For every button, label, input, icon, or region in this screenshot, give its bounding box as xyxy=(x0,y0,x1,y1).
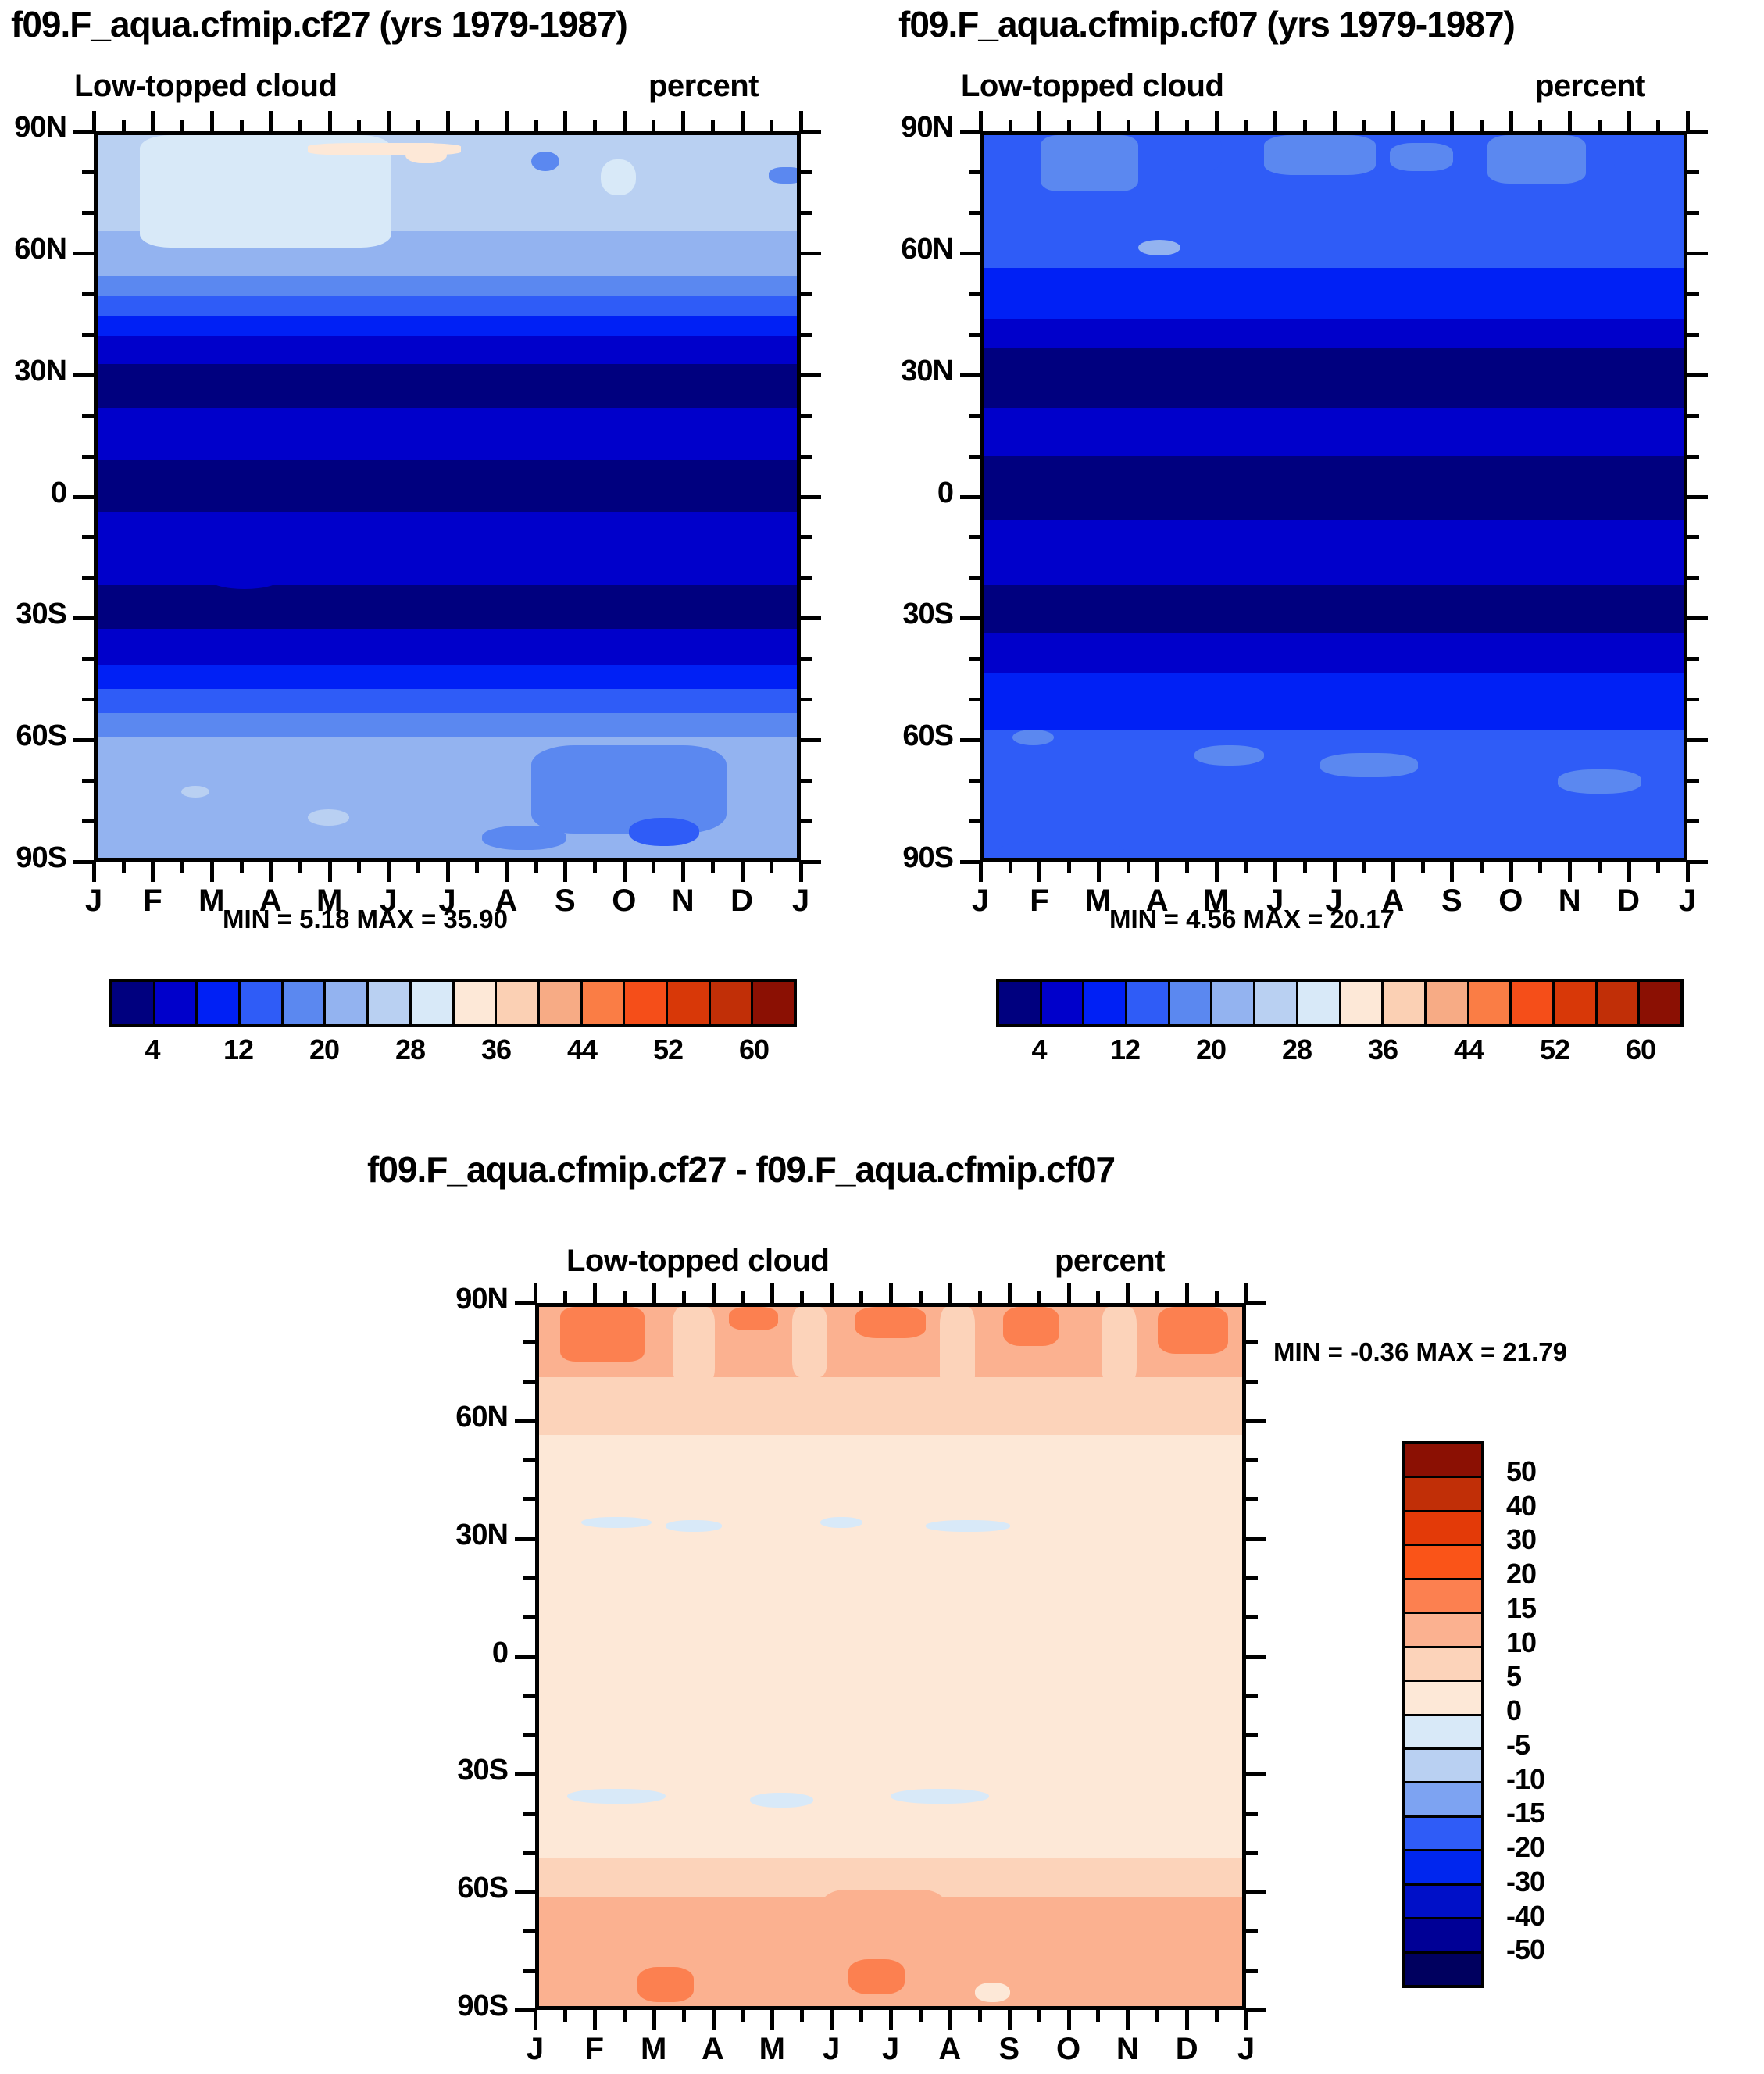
x-tick-major xyxy=(1244,1283,1248,1303)
y-tick-minor xyxy=(801,657,812,661)
y-tick-minor xyxy=(1687,576,1699,580)
contour-field-diff xyxy=(539,1307,1242,2006)
y-tick-major xyxy=(1687,373,1708,377)
contour-band xyxy=(980,673,1687,707)
x-tick-major xyxy=(741,111,745,131)
y-tick-minor xyxy=(523,1733,535,1737)
colorbar-swatch[interactable] xyxy=(1405,1614,1481,1647)
contour-band xyxy=(980,585,1687,635)
y-tick-major xyxy=(960,373,980,377)
y-tick-minor xyxy=(523,1694,535,1698)
y-tick-minor xyxy=(1246,1969,1258,1973)
contour-blob xyxy=(940,1307,975,1392)
contour-blob xyxy=(722,1913,806,1968)
colorbar-swatch[interactable] xyxy=(284,982,327,1024)
contour-blob xyxy=(629,818,699,846)
panel-right-subtitle-left: Low-topped cloud xyxy=(961,69,1223,104)
colorbar-tick-label: 60 xyxy=(707,1033,801,1066)
contour-band xyxy=(980,319,1687,349)
y-tick-minor xyxy=(801,576,812,580)
colorbar-swatch[interactable] xyxy=(455,982,498,1024)
x-tick-major xyxy=(1155,862,1159,882)
x-tick-minor xyxy=(741,2010,745,2022)
y-tick-minor xyxy=(1687,292,1699,296)
plot-area-right[interactable] xyxy=(980,131,1687,862)
contour-blob xyxy=(601,159,636,195)
colorbar-swatch[interactable] xyxy=(668,982,711,1024)
colorbar-swatch[interactable] xyxy=(625,982,668,1024)
y-tick-minor xyxy=(82,698,94,701)
x-axis-label: J xyxy=(1656,884,1719,919)
y-tick-minor xyxy=(1687,211,1699,215)
x-axis-label: J xyxy=(949,884,1012,919)
colorbar-tick-label: -40 xyxy=(1506,1900,1544,1933)
x-tick-minor xyxy=(800,1291,804,1303)
contour-blob xyxy=(567,1789,666,1804)
y-axis-label: 60S xyxy=(824,719,953,753)
colorbar-tick-label: 20 xyxy=(1164,1033,1258,1066)
x-axis-label: J xyxy=(1215,2032,1277,2067)
y-tick-minor xyxy=(1687,698,1699,701)
plot-area-left[interactable] xyxy=(94,131,801,862)
x-tick-minor xyxy=(859,2010,863,2022)
colorbar-swatch[interactable] xyxy=(1042,982,1085,1024)
colorbar-swatch[interactable] xyxy=(155,982,198,1024)
colorbar-swatch[interactable] xyxy=(999,982,1042,1024)
colorbar-left[interactable] xyxy=(109,979,797,1027)
x-tick-minor xyxy=(919,2010,923,2022)
x-axis-label: D xyxy=(711,884,773,919)
colorbar-swatch[interactable] xyxy=(1170,982,1213,1024)
colorbar-tick-label: 10 xyxy=(1506,1626,1536,1659)
colorbar-tick-label: 52 xyxy=(1508,1033,1602,1066)
x-axis-label: O xyxy=(593,884,655,919)
y-tick-major xyxy=(73,373,94,377)
x-axis-label: A xyxy=(919,2032,981,2067)
y-tick-major xyxy=(1687,616,1708,620)
y-tick-minor xyxy=(801,819,812,823)
y-tick-minor xyxy=(1687,455,1699,459)
contour-blob xyxy=(792,1307,827,1377)
y-axis-label: 30S xyxy=(824,598,953,631)
x-tick-major xyxy=(1067,1283,1071,1303)
x-tick-minor xyxy=(1303,862,1307,873)
x-tick-major xyxy=(770,1283,774,1303)
x-tick-major xyxy=(830,2010,834,2030)
y-tick-minor xyxy=(801,698,812,701)
y-tick-major xyxy=(960,860,980,864)
y-axis-label: 90S xyxy=(379,1990,508,2023)
x-tick-minor xyxy=(1155,1291,1159,1303)
x-tick-minor xyxy=(180,862,184,873)
x-tick-major xyxy=(830,1283,834,1303)
contour-blob xyxy=(1003,1307,1059,1346)
colorbar-tick-label: -10 xyxy=(1506,1763,1544,1796)
contour-band xyxy=(980,268,1687,298)
contour-blob xyxy=(673,1307,715,1384)
colorbar-swatch[interactable] xyxy=(1512,982,1555,1024)
contour-blob xyxy=(975,1983,1010,2002)
y-tick-minor xyxy=(969,698,980,701)
colorbar-swatch[interactable] xyxy=(1405,1750,1481,1783)
x-tick-minor xyxy=(978,1291,982,1303)
y-tick-major xyxy=(960,130,980,134)
x-tick-major xyxy=(1509,111,1513,131)
x-tick-minor xyxy=(652,862,655,873)
colorbar-swatch[interactable] xyxy=(1405,1954,1481,1985)
y-tick-minor xyxy=(969,333,980,337)
colorbar-swatch[interactable] xyxy=(1405,1783,1481,1817)
y-tick-major xyxy=(515,1655,535,1659)
x-tick-minor xyxy=(240,120,244,131)
x-tick-major xyxy=(623,111,627,131)
contour-blob xyxy=(1558,769,1641,794)
contour-band xyxy=(94,665,801,691)
x-tick-minor xyxy=(298,862,302,873)
x-tick-major xyxy=(979,111,983,131)
x-tick-minor xyxy=(1185,120,1189,131)
panel-right-subtitle-right: percent xyxy=(1535,69,1645,104)
colorbar-swatch[interactable] xyxy=(1598,982,1641,1024)
colorbar-swatch[interactable] xyxy=(1405,1546,1481,1580)
x-axis-label: J xyxy=(504,2032,566,2067)
colorbar-tick-label: 20 xyxy=(277,1033,371,1066)
x-tick-major xyxy=(1126,1283,1130,1303)
x-tick-major xyxy=(1627,111,1631,131)
colorbar-swatch[interactable] xyxy=(711,982,754,1024)
y-tick-major xyxy=(801,252,821,255)
contour-band xyxy=(980,408,1687,458)
y-tick-major xyxy=(73,616,94,620)
y-tick-major xyxy=(515,1772,535,1776)
x-tick-major xyxy=(712,2010,716,2030)
panel-left-subtitle-right: percent xyxy=(648,69,759,104)
contour-blob xyxy=(308,143,462,155)
contour-field-right xyxy=(984,135,1684,858)
y-tick-minor xyxy=(523,1812,535,1816)
contour-blob xyxy=(926,1520,1010,1532)
y-tick-major xyxy=(960,495,980,499)
contour-band xyxy=(980,633,1687,675)
x-tick-major xyxy=(1568,862,1572,882)
x-tick-major xyxy=(741,862,745,882)
x-tick-major xyxy=(979,862,983,882)
contour-blob xyxy=(1041,135,1138,191)
x-tick-minor xyxy=(1244,862,1248,873)
contour-blob xyxy=(769,167,801,184)
x-tick-minor xyxy=(1598,120,1602,131)
y-tick-minor xyxy=(82,779,94,783)
y-axis-label: 90N xyxy=(0,111,66,145)
panel-left-minmax: MIN = 5.18 MAX = 35.90 xyxy=(223,905,508,934)
y-tick-minor xyxy=(82,414,94,418)
x-tick-minor xyxy=(1009,120,1012,131)
x-axis-label: S xyxy=(978,2032,1041,2067)
x-tick-major xyxy=(799,111,803,131)
colorbar-swatch[interactable] xyxy=(753,982,794,1024)
y-tick-minor xyxy=(1246,1340,1258,1344)
colorbar-tick-label: 60 xyxy=(1594,1033,1687,1066)
y-tick-minor xyxy=(523,1929,535,1933)
contour-blob xyxy=(637,1967,694,2002)
x-tick-major xyxy=(1568,111,1572,131)
contour-band xyxy=(94,364,801,410)
y-tick-major xyxy=(801,495,821,499)
x-tick-major xyxy=(1244,2010,1248,2030)
colorbar-swatch[interactable] xyxy=(1405,1648,1481,1682)
x-axis-label: A xyxy=(682,2032,745,2067)
colorbar-swatch[interactable] xyxy=(1405,1444,1481,1478)
colorbar-swatch[interactable] xyxy=(1384,982,1427,1024)
x-tick-minor xyxy=(623,1291,627,1303)
y-tick-minor xyxy=(523,1969,535,1973)
x-tick-major xyxy=(1185,2010,1189,2030)
colorbar-swatch[interactable] xyxy=(1255,982,1298,1024)
x-tick-minor xyxy=(1215,1291,1219,1303)
y-tick-major xyxy=(73,860,94,864)
y-tick-minor xyxy=(801,535,812,539)
x-tick-major xyxy=(1686,111,1690,131)
colorbar-tick-label: 5 xyxy=(1506,1660,1521,1693)
colorbar-diff[interactable] xyxy=(1402,1441,1484,1988)
contour-band xyxy=(94,276,801,298)
y-tick-major xyxy=(1246,1772,1266,1776)
colorbar-swatch[interactable] xyxy=(1405,1818,1481,1851)
x-tick-minor xyxy=(298,120,302,131)
x-tick-minor xyxy=(1421,120,1425,131)
y-axis-label: 60S xyxy=(379,1872,508,1905)
y-tick-minor xyxy=(1246,1458,1258,1462)
y-tick-minor xyxy=(523,1615,535,1619)
colorbar-swatch[interactable] xyxy=(540,982,583,1024)
colorbar-swatch[interactable] xyxy=(497,982,540,1024)
x-tick-major xyxy=(1008,1283,1012,1303)
contour-blob xyxy=(666,1520,722,1532)
colorbar-swatch[interactable] xyxy=(1405,1919,1481,1953)
x-tick-major xyxy=(1037,111,1041,131)
contour-blob xyxy=(855,1307,926,1338)
y-tick-major xyxy=(801,130,821,134)
colorbar-swatch[interactable] xyxy=(1405,1580,1481,1614)
x-axis-label: F xyxy=(563,2032,626,2067)
y-tick-major xyxy=(1246,1890,1266,1894)
colorbar-swatch[interactable] xyxy=(326,982,369,1024)
colorbar-swatch[interactable] xyxy=(112,982,155,1024)
x-tick-major xyxy=(210,862,214,882)
panel-diff-subtitle-right: percent xyxy=(1055,1244,1165,1279)
y-tick-minor xyxy=(969,170,980,174)
contour-blob xyxy=(560,1307,645,1362)
contour-band xyxy=(94,629,801,667)
x-tick-minor xyxy=(682,1291,686,1303)
contour-band xyxy=(94,548,801,587)
x-tick-major xyxy=(770,2010,774,2030)
x-tick-minor xyxy=(770,120,773,131)
y-tick-major xyxy=(1246,1301,1266,1305)
panel-left-title: f09.F_aqua.cfmip.cf27 (yrs 1979-1987) xyxy=(11,3,627,45)
colorbar-tick-label: 4 xyxy=(992,1033,1086,1066)
x-tick-minor xyxy=(357,862,361,873)
x-tick-major xyxy=(269,111,273,131)
contour-blob xyxy=(891,1789,989,1804)
contour-blob xyxy=(1264,135,1376,175)
x-tick-minor xyxy=(741,1291,745,1303)
x-tick-major xyxy=(151,111,155,131)
x-tick-minor xyxy=(711,862,715,873)
y-tick-minor xyxy=(1246,1615,1258,1619)
y-tick-major xyxy=(73,738,94,742)
x-tick-major xyxy=(652,1283,656,1303)
x-axis-label: D xyxy=(1598,884,1660,919)
colorbar-tick-label: -20 xyxy=(1506,1831,1544,1864)
colorbar-tick-label: 50 xyxy=(1506,1455,1536,1488)
x-tick-minor xyxy=(475,120,479,131)
x-axis-label: N xyxy=(1538,884,1601,919)
colorbar-swatch[interactable] xyxy=(1555,982,1598,1024)
y-axis-label: 30S xyxy=(0,598,66,631)
x-tick-major xyxy=(652,2010,656,2030)
x-tick-minor xyxy=(593,120,597,131)
y-tick-minor xyxy=(1687,657,1699,661)
x-axis-label: O xyxy=(1480,884,1542,919)
colorbar-swatch[interactable] xyxy=(1127,982,1170,1024)
y-tick-major xyxy=(1246,1537,1266,1541)
colorbar-swatch[interactable] xyxy=(1427,982,1469,1024)
y-tick-minor xyxy=(523,1497,535,1501)
x-tick-major xyxy=(1215,111,1219,131)
x-axis-label: F xyxy=(1008,884,1070,919)
y-tick-major xyxy=(1246,1419,1266,1423)
colorbar-swatch[interactable] xyxy=(1469,982,1512,1024)
y-axis-label: 90S xyxy=(824,841,953,875)
contour-blob xyxy=(531,152,559,172)
x-tick-minor xyxy=(770,862,773,873)
y-tick-minor xyxy=(82,576,94,580)
x-tick-major xyxy=(210,111,214,131)
y-axis-label: 0 xyxy=(824,477,953,510)
x-tick-minor xyxy=(1067,862,1071,873)
colorbar-swatch[interactable] xyxy=(583,982,626,1024)
colorbar-swatch[interactable] xyxy=(241,982,284,1024)
colorbar-swatch[interactable] xyxy=(1640,982,1680,1024)
x-tick-minor xyxy=(711,120,715,131)
y-tick-minor xyxy=(523,1458,535,1462)
y-tick-minor xyxy=(801,455,812,459)
x-tick-major xyxy=(92,111,96,131)
contour-blob xyxy=(998,841,1124,862)
colorbar-tick-label: 20 xyxy=(1506,1558,1536,1590)
colorbar-swatch[interactable] xyxy=(198,982,241,1024)
y-tick-minor xyxy=(1687,819,1699,823)
x-tick-major xyxy=(1333,862,1337,882)
y-axis-label: 30N xyxy=(379,1519,508,1552)
y-tick-minor xyxy=(969,657,980,661)
y-tick-major xyxy=(515,1537,535,1541)
colorbar-swatch[interactable] xyxy=(412,982,455,1024)
x-tick-major xyxy=(623,862,627,882)
contour-blob xyxy=(1138,240,1180,256)
y-tick-major xyxy=(515,1419,535,1423)
y-tick-minor xyxy=(1246,1812,1258,1816)
y-tick-major xyxy=(801,616,821,620)
colorbar-swatch[interactable] xyxy=(1405,1682,1481,1715)
panel-left-subtitle-left: Low-topped cloud xyxy=(74,69,337,104)
colorbar-swatch[interactable] xyxy=(1405,1851,1481,1885)
contour-blob xyxy=(531,745,727,834)
x-tick-major xyxy=(563,111,567,131)
colorbar-swatch[interactable] xyxy=(1405,1886,1481,1919)
y-axis-label: 0 xyxy=(379,1637,508,1670)
x-tick-major xyxy=(1037,862,1041,882)
y-tick-major xyxy=(73,130,94,134)
x-axis-label: J xyxy=(800,2032,862,2067)
x-axis-label: S xyxy=(1420,884,1483,919)
x-tick-major xyxy=(446,862,450,882)
colorbar-tick-label: 28 xyxy=(1250,1033,1344,1066)
y-tick-minor xyxy=(1687,414,1699,418)
y-tick-major xyxy=(73,252,94,255)
x-tick-major xyxy=(505,111,509,131)
x-tick-minor xyxy=(1009,862,1012,873)
x-tick-minor xyxy=(1303,120,1307,131)
contour-band xyxy=(94,713,801,739)
contour-blob xyxy=(1487,135,1585,184)
colorbar-right[interactable] xyxy=(996,979,1684,1027)
y-tick-major xyxy=(1687,252,1708,255)
y-tick-minor xyxy=(82,170,94,174)
y-tick-minor xyxy=(1246,1733,1258,1737)
y-tick-minor xyxy=(1246,1380,1258,1384)
contour-band xyxy=(94,336,801,366)
colorbar-swatch[interactable] xyxy=(1212,982,1255,1024)
x-tick-major xyxy=(1450,862,1454,882)
colorbar-swatch[interactable] xyxy=(369,982,412,1024)
x-tick-minor xyxy=(416,120,420,131)
x-tick-major xyxy=(1008,2010,1012,2030)
x-tick-major xyxy=(681,111,685,131)
y-tick-minor xyxy=(969,819,980,823)
contour-blob xyxy=(581,1517,652,1529)
panel-diff-subtitle-left: Low-topped cloud xyxy=(566,1244,829,1279)
x-tick-minor xyxy=(919,1291,923,1303)
colorbar-swatch[interactable] xyxy=(1084,982,1127,1024)
x-axis-label: J xyxy=(859,2032,922,2067)
y-tick-minor xyxy=(1246,1851,1258,1855)
colorbar-swatch[interactable] xyxy=(1405,1512,1481,1546)
plot-area-diff[interactable] xyxy=(535,1303,1246,2010)
colorbar-swatch[interactable] xyxy=(1405,1716,1481,1750)
colorbar-tick-label: 30 xyxy=(1506,1523,1536,1556)
colorbar-swatch[interactable] xyxy=(1405,1478,1481,1512)
y-tick-major xyxy=(515,2008,535,2012)
y-tick-minor xyxy=(1687,535,1699,539)
x-tick-major xyxy=(712,1283,716,1303)
x-tick-major xyxy=(681,862,685,882)
y-tick-major xyxy=(515,1301,535,1305)
colorbar-swatch[interactable] xyxy=(1341,982,1384,1024)
y-tick-major xyxy=(1687,495,1708,499)
x-tick-major xyxy=(1333,111,1337,131)
y-tick-minor xyxy=(969,292,980,296)
x-tick-minor xyxy=(978,2010,982,2022)
contour-band xyxy=(980,348,1687,409)
colorbar-swatch[interactable] xyxy=(1298,982,1341,1024)
y-tick-major xyxy=(960,252,980,255)
y-tick-major xyxy=(801,860,821,864)
y-tick-minor xyxy=(969,455,980,459)
contour-blob xyxy=(581,1897,694,1968)
contour-band xyxy=(980,705,1687,731)
